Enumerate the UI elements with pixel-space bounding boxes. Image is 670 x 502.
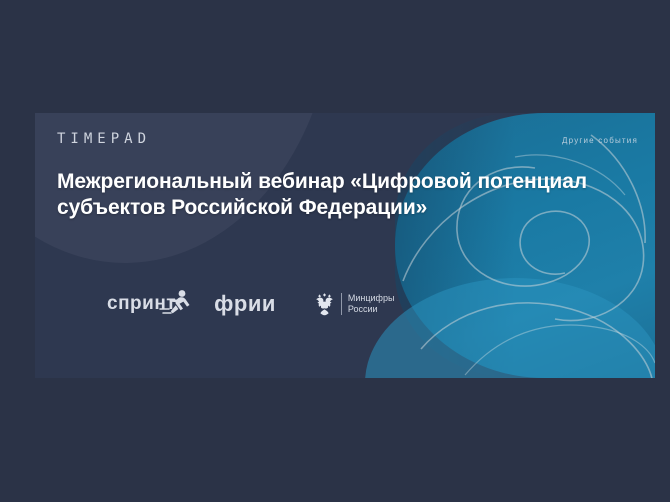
partner-logos: спринт фрии xyxy=(107,289,394,319)
event-banner[interactable]: TIMEPAD Другие события Межрегиональный в… xyxy=(35,113,655,378)
mincifry-line-1: Минцифры xyxy=(348,293,395,304)
russian-coat-of-arms-icon xyxy=(314,292,335,316)
event-title: Межрегиональный вебинар «Цифровой потенц… xyxy=(57,169,637,221)
other-events-link[interactable]: Другие события xyxy=(562,136,638,145)
timepad-logo[interactable]: TIMEPAD xyxy=(57,131,151,147)
partner-logo-mincifry[interactable]: Минцифры России xyxy=(314,292,395,316)
blue-ellipse-blob-icon xyxy=(365,278,655,378)
banner-teal-panel xyxy=(395,113,655,378)
running-man-icon xyxy=(158,287,192,317)
partner-logo-frii[interactable]: фрии xyxy=(214,291,276,317)
mincifry-divider xyxy=(341,293,342,315)
partner-logo-sprint[interactable]: спринт xyxy=(107,289,176,319)
page-background: TIMEPAD Другие события Межрегиональный в… xyxy=(0,0,670,502)
frii-wordmark: фрии xyxy=(214,291,276,316)
mincifry-wordmark: Минцифры России xyxy=(348,293,395,315)
mincifry-line-2: России xyxy=(348,304,395,315)
